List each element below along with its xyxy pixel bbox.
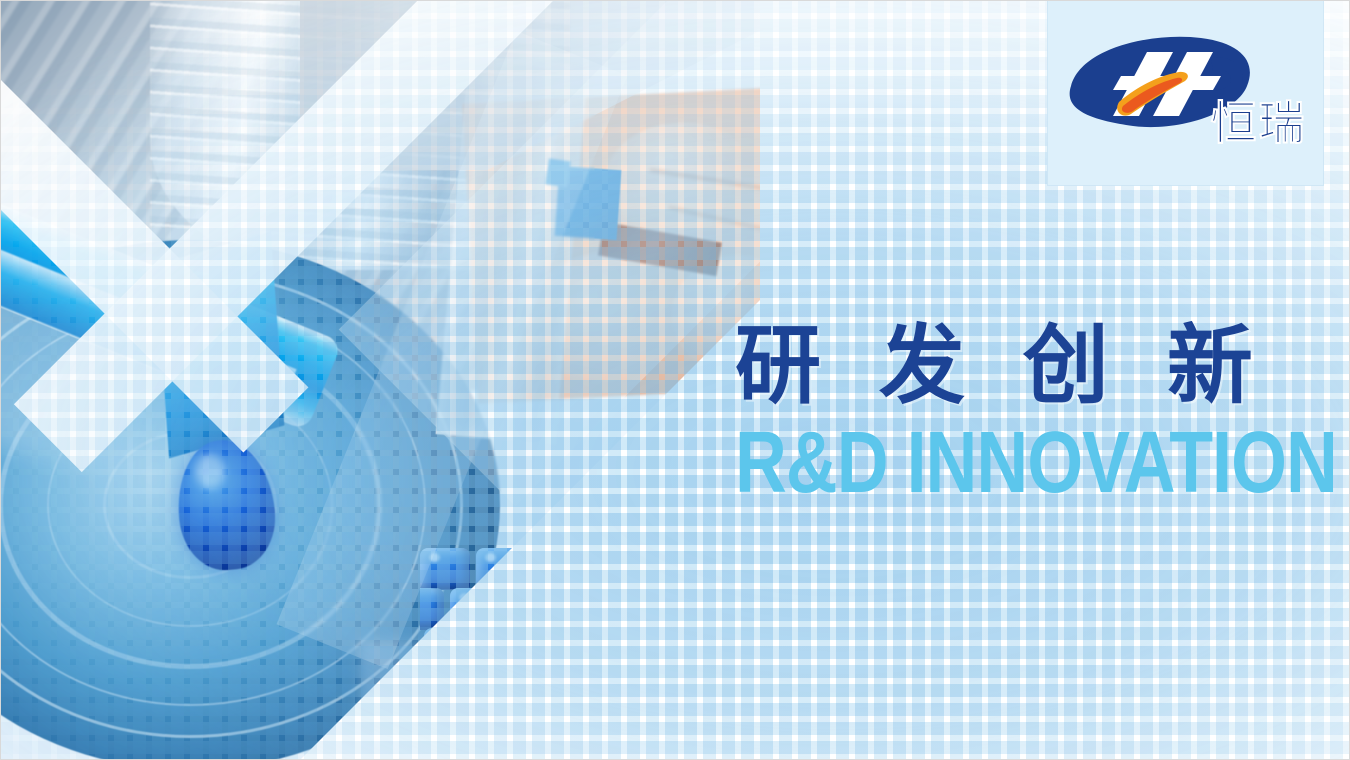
rd-innovation-banner: 恒瑞 研 发 创 新 R&D INNOVATION <box>0 0 1350 760</box>
logo-company-name: 恒瑞 <box>1211 100 1307 146</box>
headline-chinese: 研 发 创 新 <box>735 322 1345 411</box>
headline-english: R&D INNOVATION <box>735 419 1327 506</box>
headline-block: 研 发 创 新 R&D INNOVATION <box>735 322 1345 493</box>
company-logo-plate: 恒瑞 <box>1048 0 1323 185</box>
logo-artwork: 恒瑞 <box>1061 28 1311 158</box>
